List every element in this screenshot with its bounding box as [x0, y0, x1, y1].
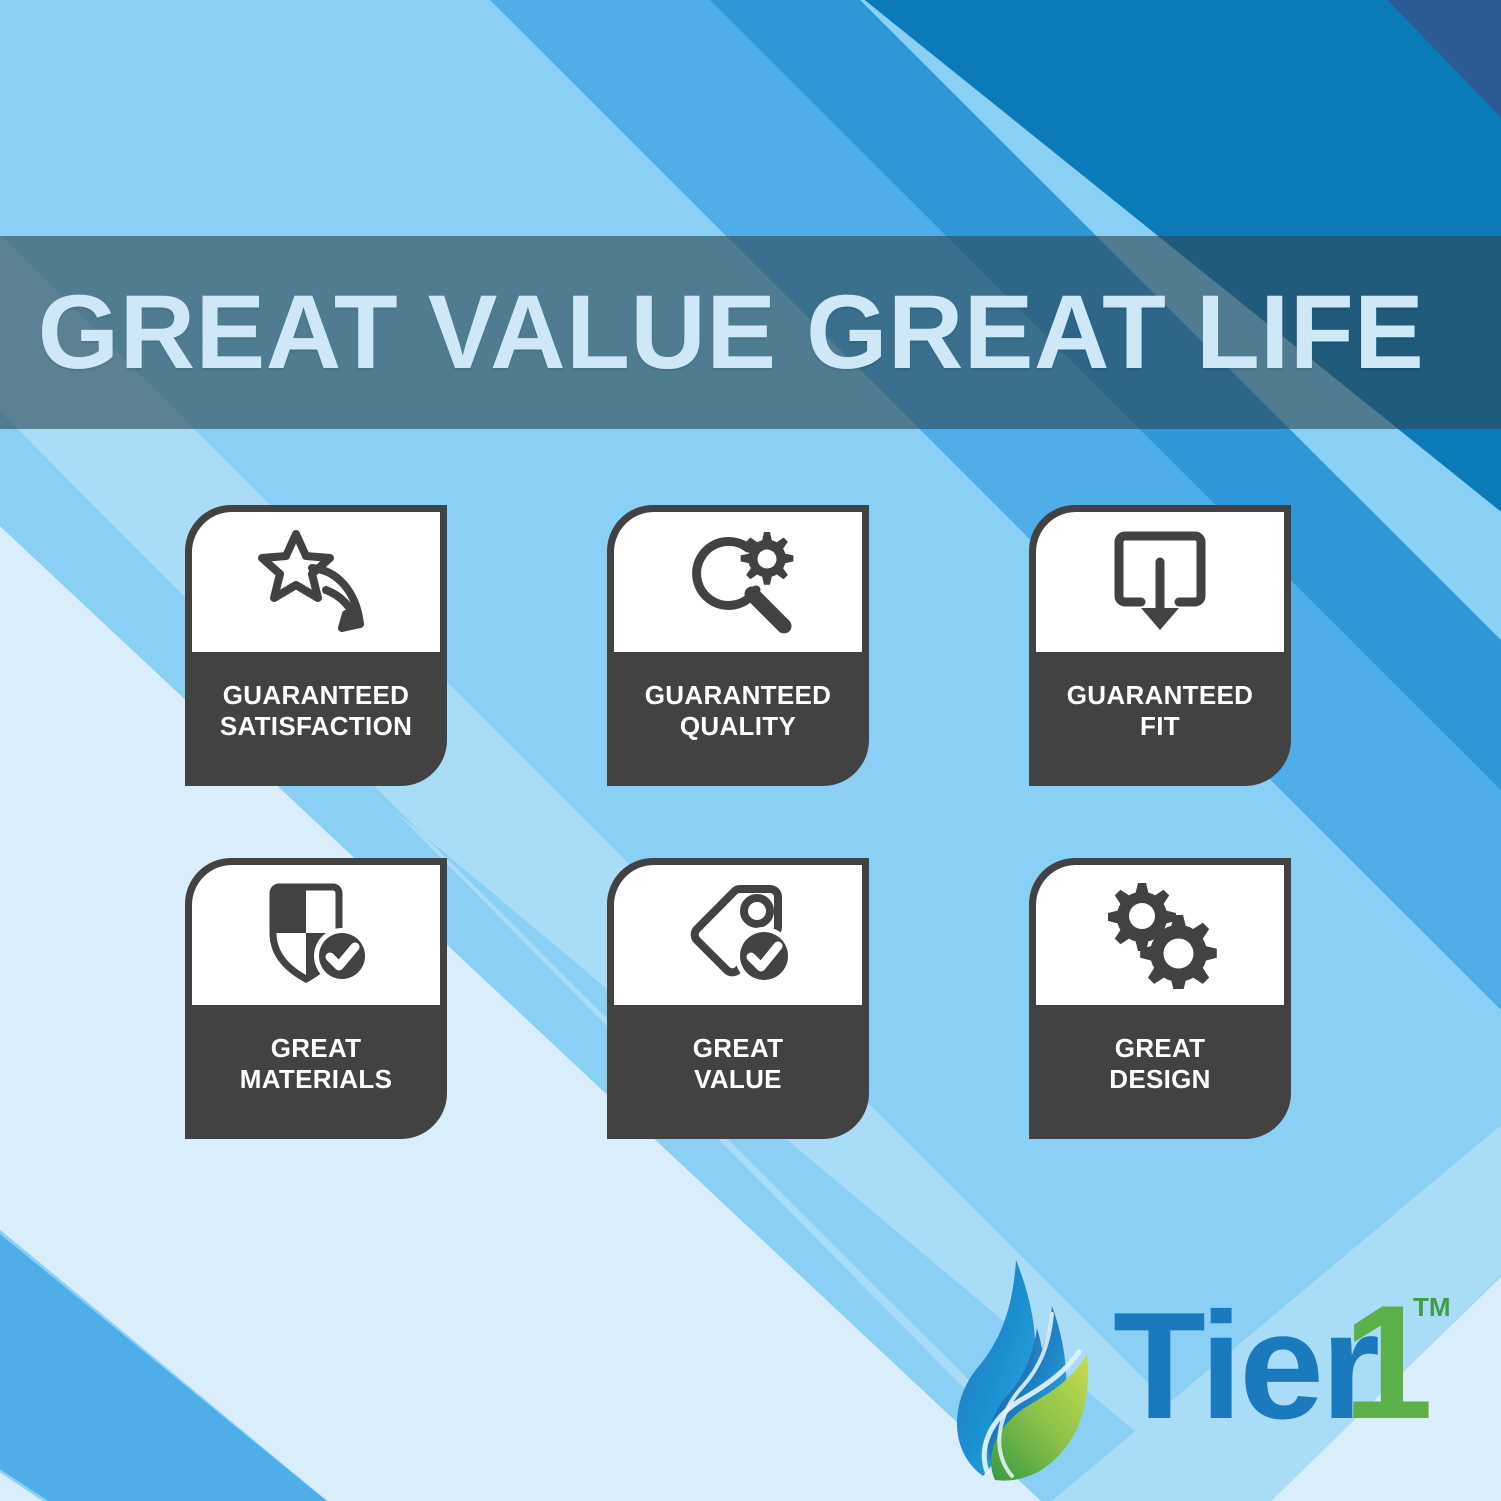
feature-card-guaranteed-quality[interactable]: GUARANTEED QUALITY: [607, 505, 869, 786]
card-icon-pane: [1036, 865, 1284, 1005]
page-title: GREAT VALUE GREAT LIFE: [0, 280, 1424, 385]
feature-card-great-design[interactable]: GREAT DESIGN: [1029, 858, 1291, 1139]
card-icon-pane: [192, 512, 440, 652]
card-icon-pane: [192, 865, 440, 1005]
feature-card-row-2: GREAT MATERIALS GREAT VALUE: [185, 858, 1330, 1139]
card-label: GUARANTEED QUALITY: [607, 652, 869, 786]
feature-card-guaranteed-fit[interactable]: GUARANTEED FIT: [1029, 505, 1291, 786]
feature-card-great-materials[interactable]: GREAT MATERIALS: [185, 858, 447, 1139]
card-icon-pane: [614, 865, 862, 1005]
shield-check-icon: [257, 881, 375, 989]
box-down-arrow-icon: [1105, 528, 1215, 636]
card-label: GREAT MATERIALS: [185, 1005, 447, 1139]
logo-trademark: TM: [1413, 1292, 1451, 1322]
magnifier-gear-icon: [678, 528, 798, 636]
poster-canvas: GREAT VALUE GREAT LIFE: [0, 0, 1501, 1501]
card-label: GUARANTEED FIT: [1029, 652, 1291, 786]
card-icon-pane: [614, 512, 862, 652]
card-label: GREAT VALUE: [607, 1005, 869, 1139]
logo-wordmark-text: Tier: [1113, 1281, 1378, 1451]
headline-banner: GREAT VALUE GREAT LIFE: [0, 236, 1501, 429]
feature-card-great-value[interactable]: GREAT VALUE: [607, 858, 869, 1139]
shooting-star-icon: [256, 528, 376, 636]
card-icon-pane: [1036, 512, 1284, 652]
feature-card-row-1: GUARANTEED SATISFACTION: [185, 505, 1330, 786]
card-label: GREAT DESIGN: [1029, 1005, 1291, 1139]
card-label: GUARANTEED SATISFACTION: [185, 652, 447, 786]
brand-logo[interactable]: Tier 1 TM: [955, 1248, 1455, 1488]
gears-icon: [1100, 881, 1220, 989]
logo-wordmark: Tier 1 TM: [1113, 1251, 1453, 1486]
price-tag-check-icon: [678, 881, 798, 989]
water-drop-leaf-icon: [955, 1248, 1105, 1488]
feature-card-grid: GUARANTEED SATISFACTION: [185, 505, 1330, 1211]
feature-card-guaranteed-satisfaction[interactable]: GUARANTEED SATISFACTION: [185, 505, 447, 786]
